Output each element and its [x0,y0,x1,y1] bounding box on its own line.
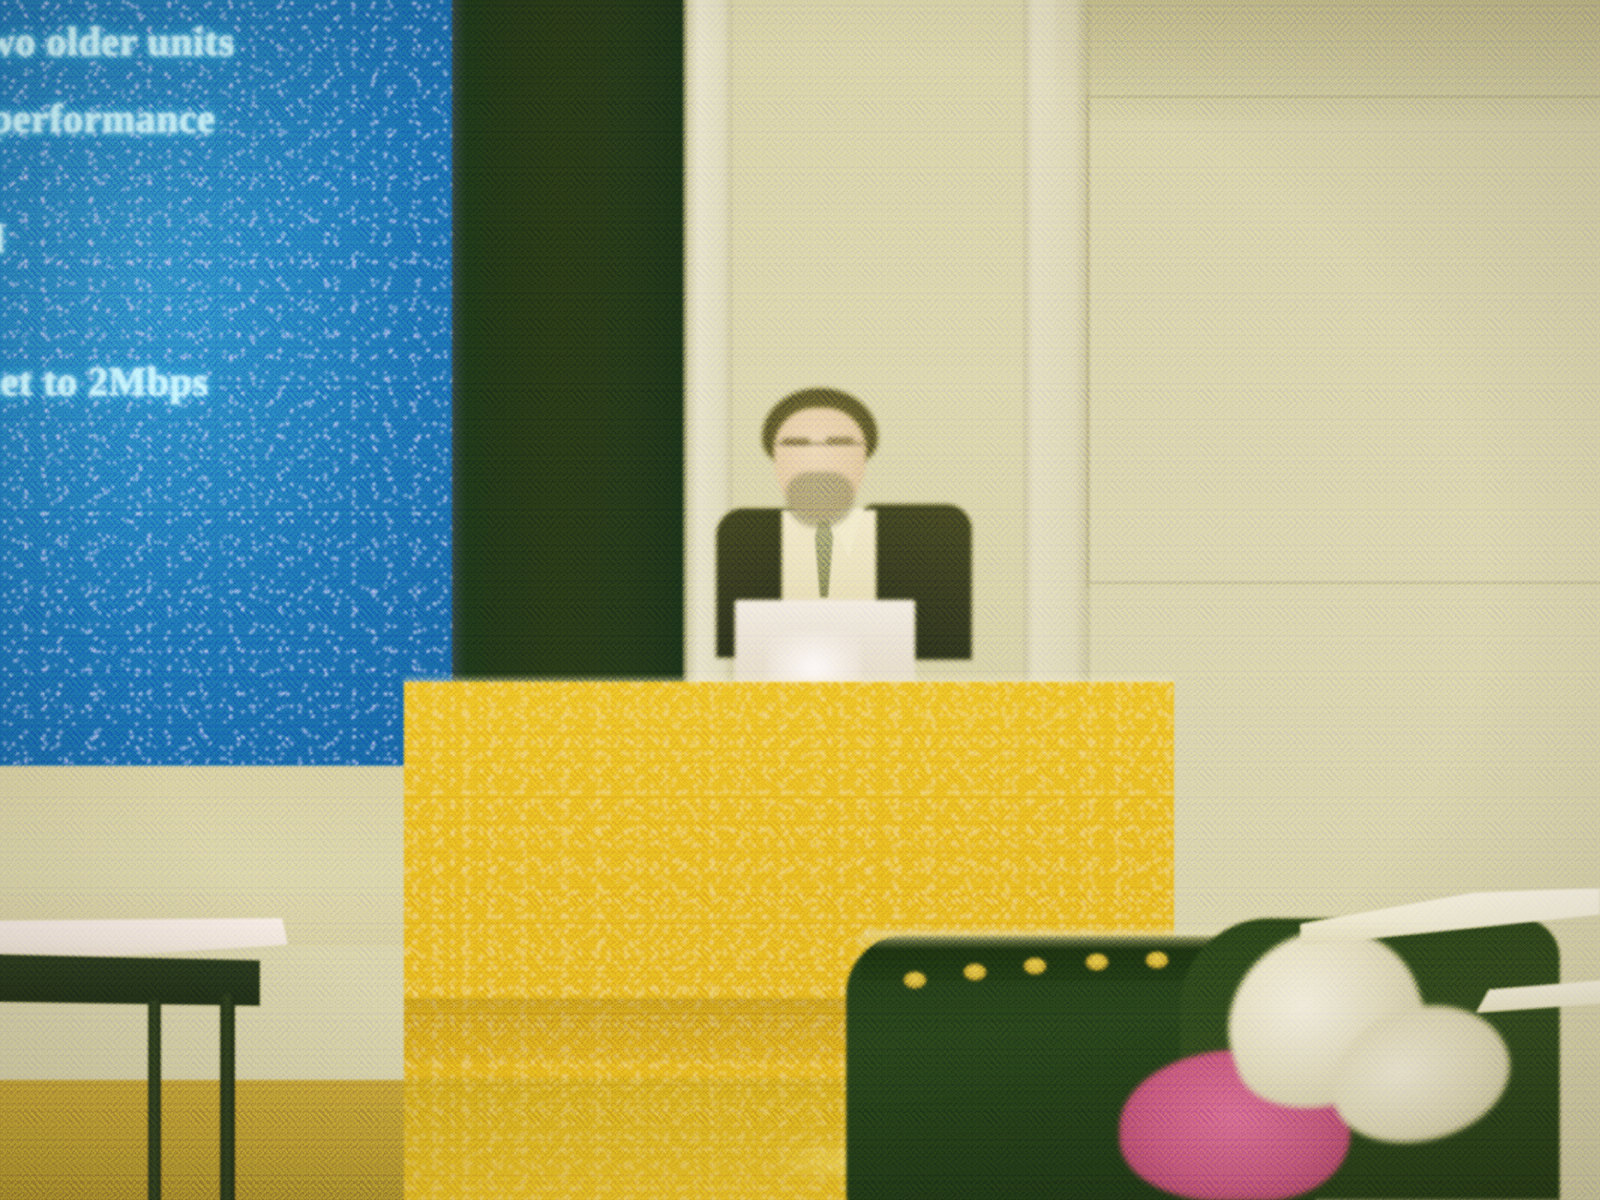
chair-perforation [1024,958,1046,974]
chair-perforation [964,964,986,980]
slide-line-1: wo older units [0,18,235,65]
wall-seam-top [1090,96,1600,98]
glasses-icon [776,442,864,461]
chair-perforation [904,972,926,988]
side-table-leg-back [220,994,235,1200]
photo-scene: wo older units performance d t net to 2M… [0,0,1600,1200]
curtain-texture [452,0,687,690]
dark-curtain-column [452,0,687,690]
slide-line-3: d [0,215,5,262]
wall-upper-shading [1055,0,1600,120]
wall-pillar-right [1018,0,1090,700]
chair-perforation [1146,952,1168,968]
projection-screen: wo older units performance d t net to 2M… [0,0,458,766]
wall-seam-bottom [1090,582,1600,584]
slide-line-2: performance [0,95,215,142]
slide-line-5: net to 2Mbps [0,358,208,405]
side-table [0,918,288,1200]
audience-member [1180,890,1600,1200]
side-table-leg-front [148,1000,161,1200]
chair-perforation [1086,954,1108,970]
curtain-left-edge [452,0,466,690]
presenter-beard [786,472,854,528]
